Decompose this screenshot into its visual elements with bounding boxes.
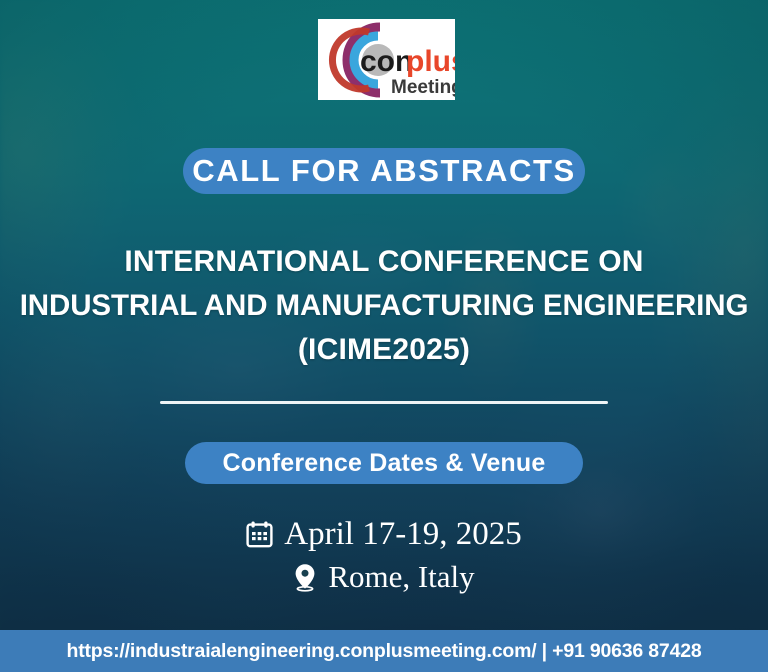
- logo-text-plus: plus: [406, 45, 455, 78]
- title-line-2: INDUSTRIAL AND MANUFACTURING ENGINEERING: [0, 284, 768, 328]
- conference-venue: Rome, Italy: [328, 559, 474, 595]
- conplus-meeting-logo: con plus Meeting: [318, 19, 455, 100]
- conference-dates-venue-label: Conference Dates & Venue: [223, 449, 546, 478]
- footer-contact-bar: https://industraialengineering.conplusme…: [0, 630, 768, 672]
- conference-title: INTERNATIONAL CONFERENCE ON INDUSTRIAL A…: [0, 240, 768, 372]
- conference-venue-row: Rome, Italy: [0, 556, 768, 598]
- logo-text-meeting: Meeting: [391, 77, 455, 98]
- section-divider: [160, 401, 608, 404]
- call-for-abstracts-label: CALL FOR ABSTRACTS: [192, 153, 576, 189]
- conference-poster: con plus Meeting CALL FOR ABSTRACTS INTE…: [0, 0, 768, 672]
- title-line-1: INTERNATIONAL CONFERENCE ON: [0, 240, 768, 284]
- title-line-3: (ICIME2025): [0, 328, 768, 372]
- conference-date-row: April 17-19, 2025: [0, 512, 768, 556]
- call-for-abstracts-banner: CALL FOR ABSTRACTS: [183, 148, 585, 194]
- calendar-icon: [246, 520, 273, 548]
- conference-dates-venue-banner: Conference Dates & Venue: [185, 442, 583, 484]
- conference-date: April 17-19, 2025: [284, 516, 521, 553]
- footer-contact-text[interactable]: https://industraialengineering.conplusme…: [66, 640, 701, 663]
- map-pin-icon: [293, 563, 317, 592]
